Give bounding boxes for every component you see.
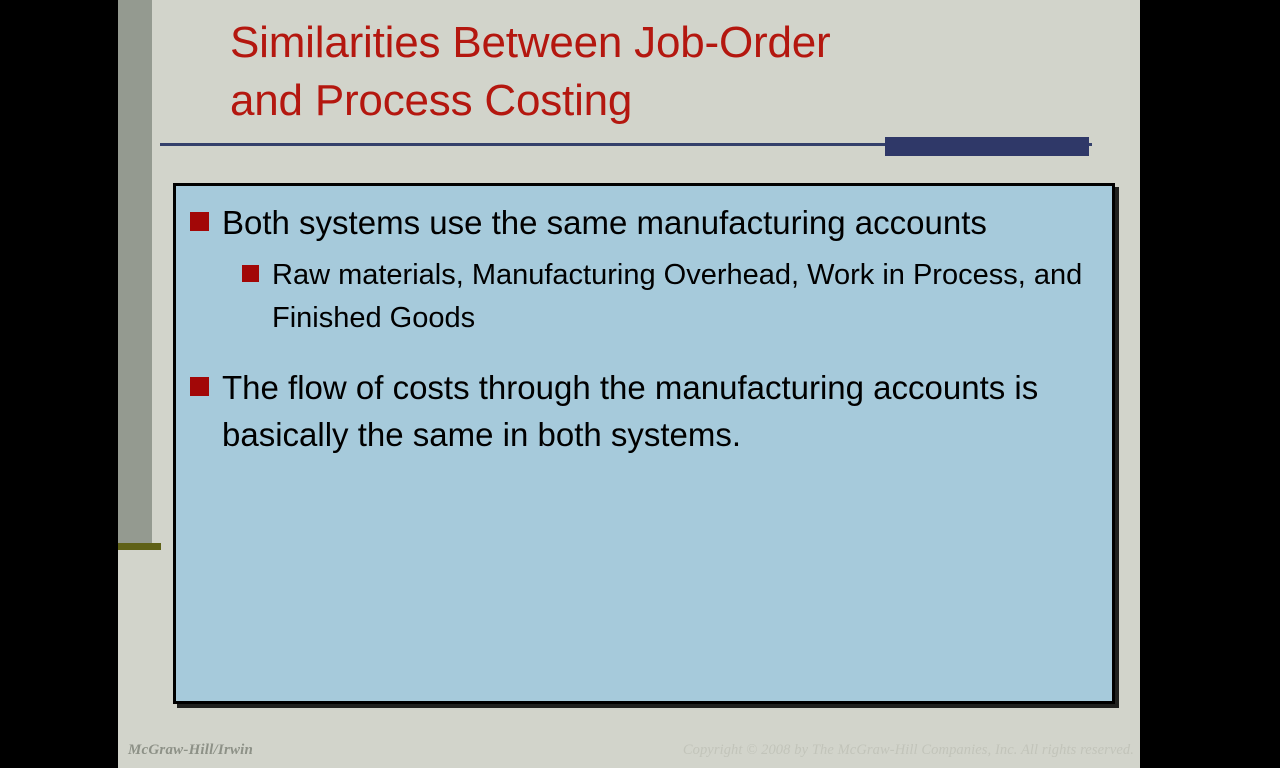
footer-copyright-label: Copyright © 2008 by The McGraw-Hill Comp… [683,742,1134,759]
left-decorative-accent-line [118,543,161,550]
content-body-box: Both systems use the same manufacturing … [173,183,1115,704]
bullet-item-2-text: Raw materials, Manufacturing Overhead, W… [272,254,1100,340]
bullet-item-1: Both systems use the same manufacturing … [190,199,1100,246]
bullet-item-3-text: The flow of costs through the manufactur… [222,364,1100,458]
footer-publisher-label: McGraw-Hill/Irwin [128,742,253,759]
slide-title: Similarities Between Job-Order and Proce… [230,14,1090,130]
bullet-square-icon [190,377,209,396]
slide-title-line-2: and Process Costing [230,72,1090,130]
left-decorative-band [118,0,152,546]
bullet-item-2: Raw materials, Manufacturing Overhead, W… [242,254,1100,340]
bullet-list: Both systems use the same manufacturing … [190,199,1100,466]
slide-canvas: Similarities Between Job-Order and Proce… [118,0,1140,768]
bullet-square-icon [190,212,209,231]
presentation-screen: Similarities Between Job-Order and Proce… [0,0,1280,768]
bullet-square-icon [242,265,259,282]
title-accent-bar [885,137,1089,156]
slide-title-line-1: Similarities Between Job-Order [230,14,1090,72]
bullet-item-1-text: Both systems use the same manufacturing … [222,199,987,246]
bullet-item-3: The flow of costs through the manufactur… [190,364,1100,458]
